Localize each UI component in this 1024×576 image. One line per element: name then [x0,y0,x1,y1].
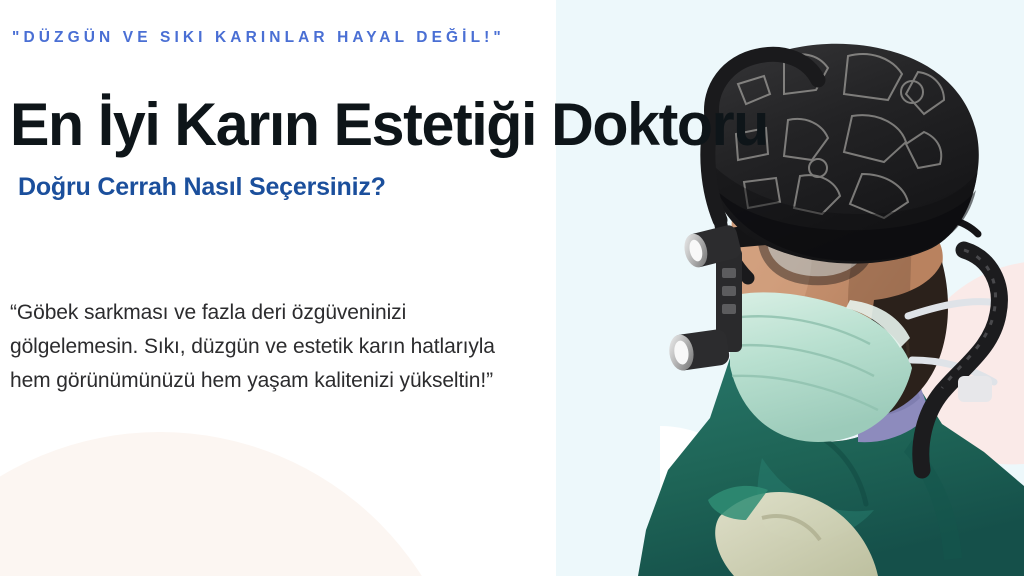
quote-line-1: “Göbek sarkması ve fazla deri özgüvenini… [10,296,570,330]
promo-banner: "DÜZGÜN VE SIKI KARINLAR HAYAL DEĞİL!" E… [0,0,1024,576]
page-title: En İyi Karın Estetiği Doktoru [10,93,768,156]
text-content-column: "DÜZGÜN VE SIKI KARINLAR HAYAL DEĞİL!" E… [0,0,620,576]
quote-line-3: hem görünümünüzü hem yaşam kalitenizi yü… [10,364,570,398]
surgeon-photo [612,0,1024,576]
body-quote: “Göbek sarkması ve fazla deri özgüvenini… [10,296,570,398]
subheadline: Doğru Cerrah Nasıl Seçersiniz? [18,173,386,202]
quote-line-2: gölgelemesin. Sıkı, düzgün ve estetik ka… [10,330,570,364]
eyebrow-tagline: "DÜZGÜN VE SIKI KARINLAR HAYAL DEĞİL!" [12,29,505,47]
